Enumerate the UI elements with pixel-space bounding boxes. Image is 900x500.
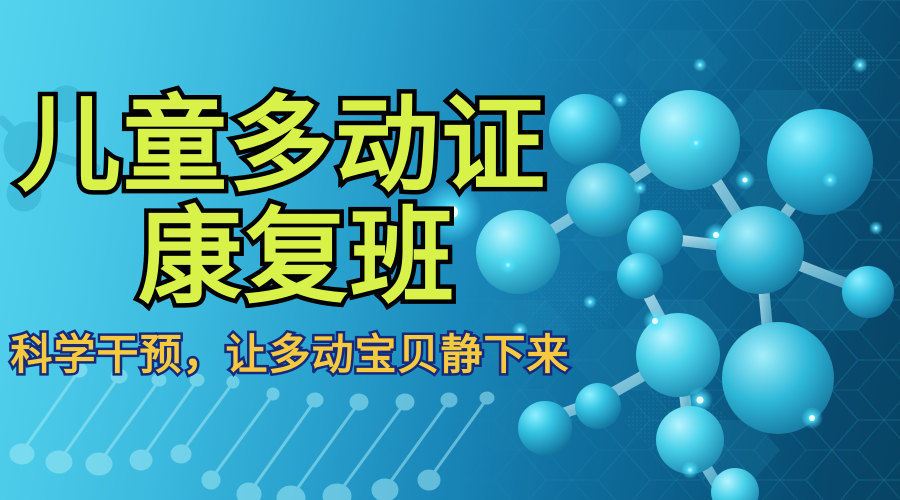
molecule-atom <box>716 206 804 294</box>
molecule-atom <box>566 163 640 237</box>
molecule-atom <box>842 266 894 318</box>
molecule-atom <box>767 109 873 215</box>
molecule-atom <box>575 383 621 429</box>
molecule-atom <box>476 210 560 294</box>
molecule-atom <box>549 94 621 166</box>
molecule-atom <box>518 401 572 455</box>
promo-banner: 儿童多动证 康复班 科学干预，让多动宝贝静下来 <box>0 0 900 500</box>
molecule-atom <box>711 468 759 500</box>
molecule-atom <box>617 253 663 299</box>
molecule-structure <box>0 0 900 500</box>
